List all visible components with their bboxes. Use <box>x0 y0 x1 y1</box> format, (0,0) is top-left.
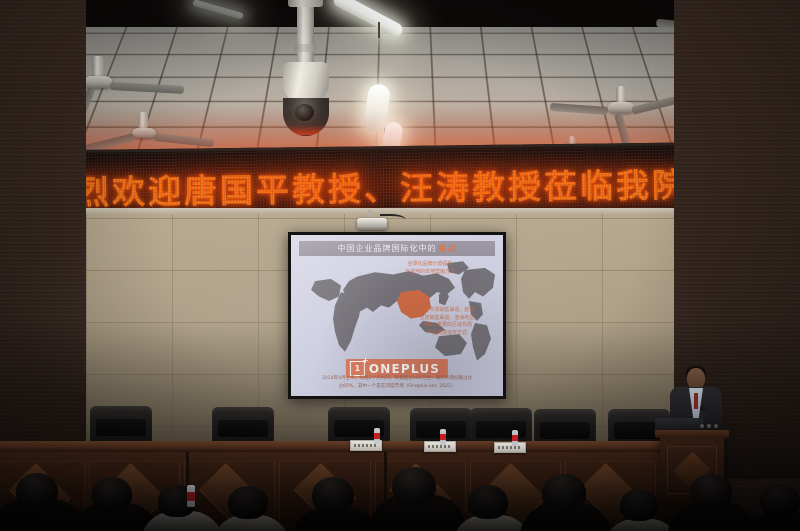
audience-silhouettes <box>0 459 800 531</box>
audience-head <box>542 474 586 511</box>
tube-light-1-drop <box>378 22 380 38</box>
audience-head <box>16 473 58 509</box>
water-bottle-3 <box>512 430 518 446</box>
oneplus-mark-icon: 1 <box>350 361 365 376</box>
camera-lens-icon <box>295 104 314 121</box>
speaker-head <box>687 368 705 389</box>
slide-title-main: 中国企业品牌国际化中的 <box>338 243 437 254</box>
podium-control-buttons <box>700 424 718 428</box>
slide-source-caption: 2014年4月上市，短短2个月时间，销量超过100万台，海外市场份额占比 占60… <box>299 375 495 391</box>
name-placard-3 <box>494 442 526 453</box>
water-bottle-2 <box>440 429 446 445</box>
audience-head <box>228 486 268 519</box>
audience-head <box>92 477 132 511</box>
ptz-camera-dome-icon <box>283 98 329 136</box>
audience-head <box>690 474 732 509</box>
ceiling-projector <box>357 218 387 230</box>
camera-mount-pole <box>297 0 314 66</box>
audience-water-bottle <box>187 485 195 507</box>
podium-button <box>700 424 704 428</box>
audience-head <box>760 484 800 517</box>
slide-annotation-mid: 北美市场销售渠道、欧洲 主流销售渠道、亚洲地区 为核心重要的区域布局 产品跨境运… <box>407 307 487 337</box>
speaker-tie <box>694 393 698 409</box>
audience-head <box>312 477 354 513</box>
slide-title: 中国企业品牌国际化中的挑战 <box>299 241 495 256</box>
lecture-hall-photo: 热烈欢迎唐国平教授、汪涛教授莅临我院讲学 中国企业品牌国际化中的挑战 <box>0 0 800 531</box>
oneplus-wordmark: ONEPLUS <box>369 362 440 376</box>
presentation-slide: 中国企业品牌国际化中的挑战 <box>291 235 503 396</box>
table-surface <box>0 441 660 452</box>
podium-top-surface <box>655 430 729 438</box>
water-bottle-1 <box>374 428 380 444</box>
slide-annotation-top: 全球化品牌价值提升 与当地的本地营销方式 <box>387 261 473 276</box>
projection-screen: 中国企业品牌国际化中的挑战 <box>288 232 506 399</box>
podium-button <box>714 424 718 428</box>
podium-button <box>707 424 711 428</box>
tube-light-6 <box>192 0 244 20</box>
audience-head <box>468 485 508 519</box>
slide-title-accent: 挑战 <box>439 243 457 254</box>
audience-head <box>392 467 436 505</box>
audience-head <box>620 489 658 521</box>
